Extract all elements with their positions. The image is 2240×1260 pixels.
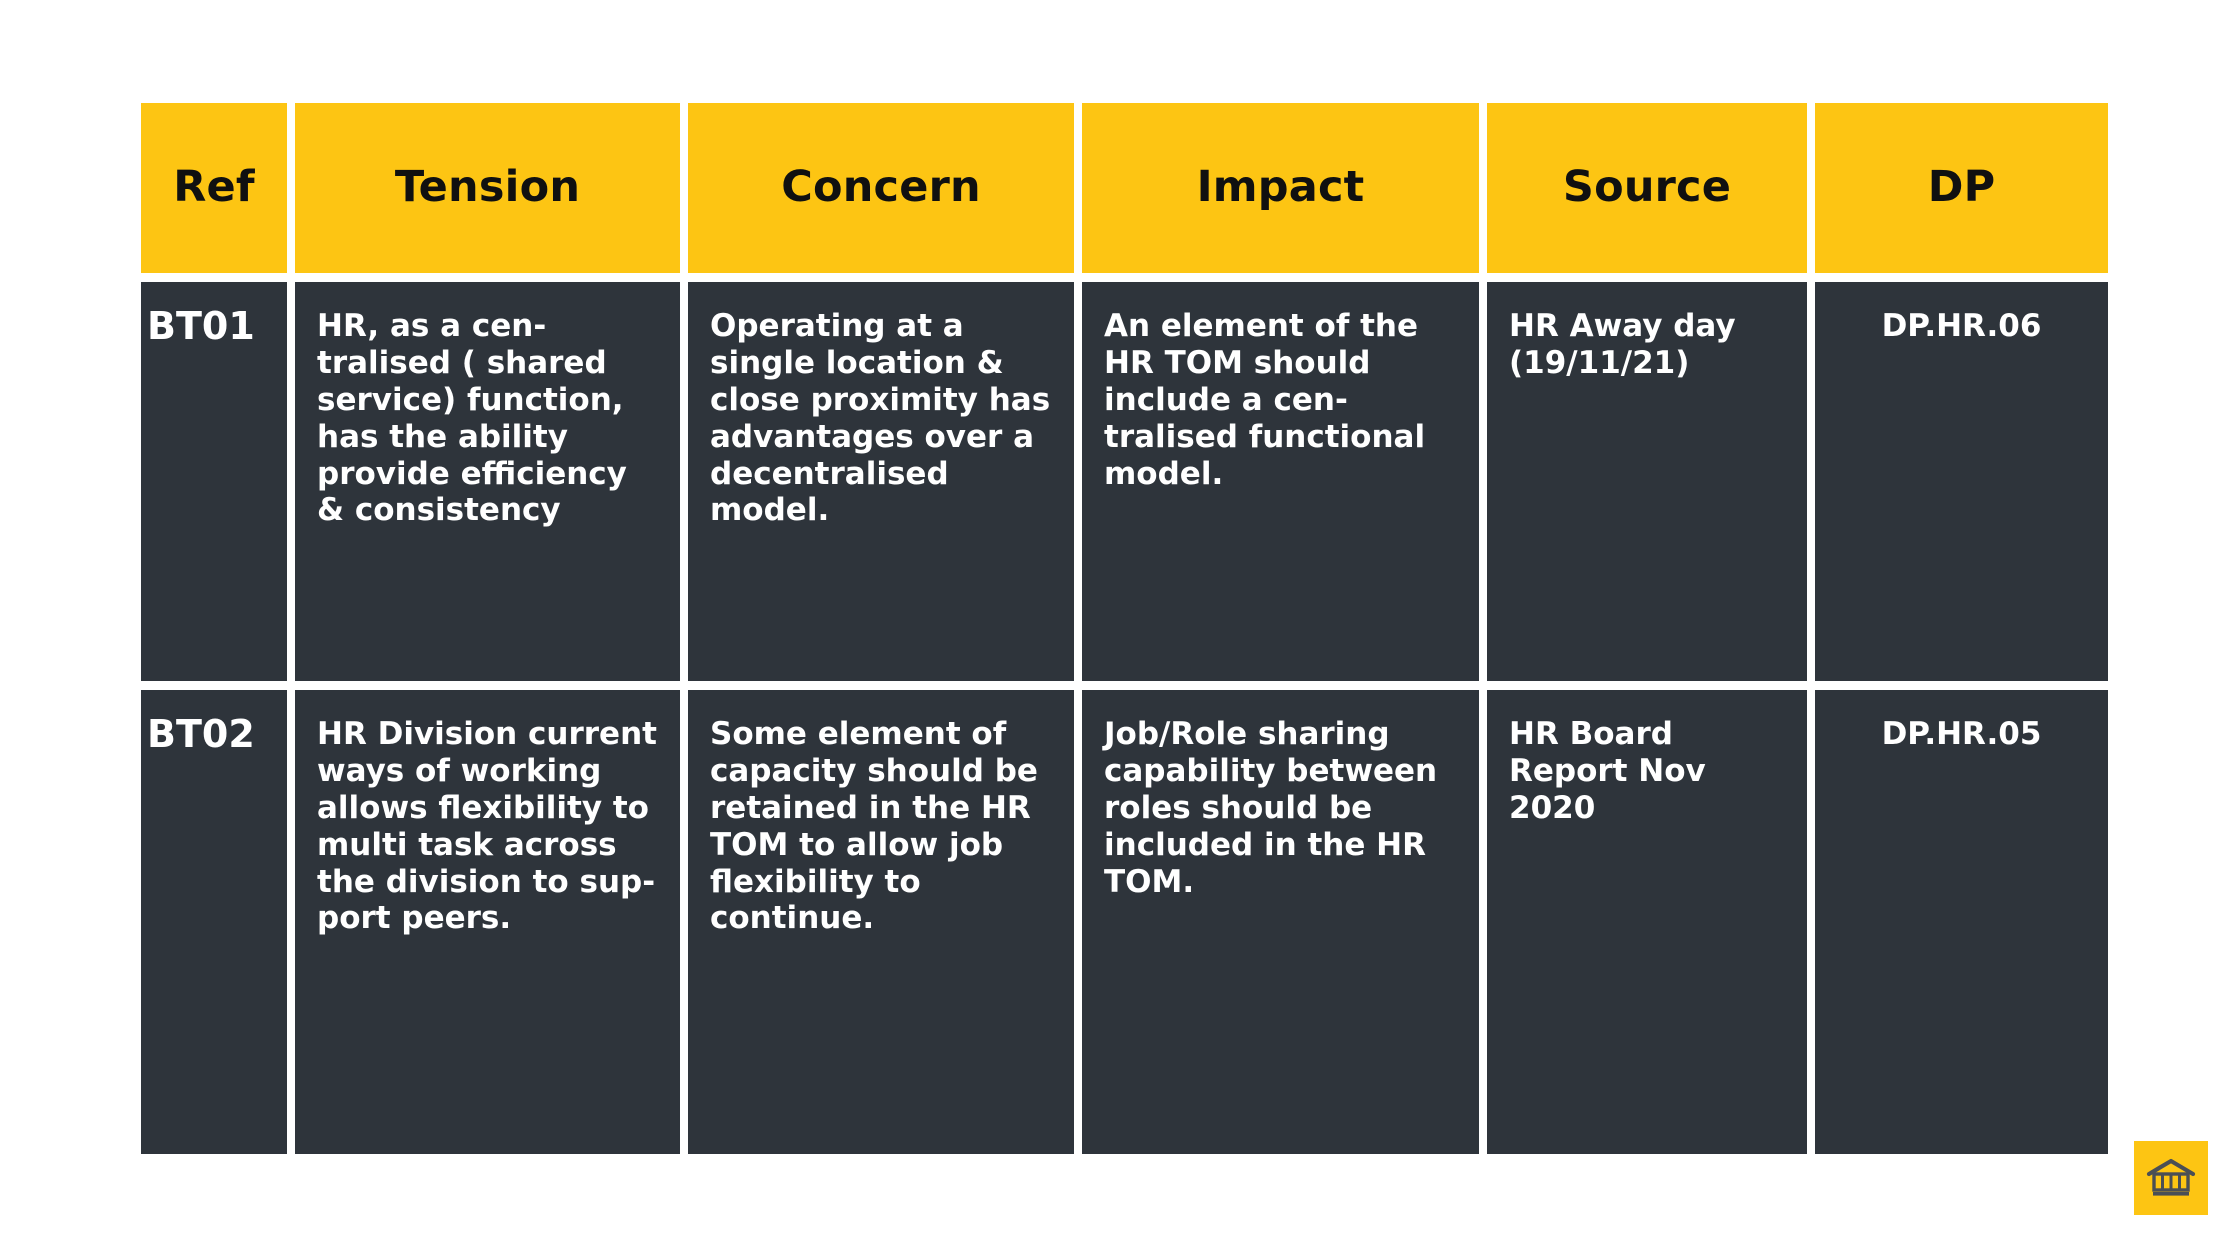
column-header-dp: DP — [1815, 103, 2108, 273]
table-row: HR Division cur­rent ways of working all… — [295, 690, 680, 1154]
table-row: HR, as a cen­tralised ( shared service) … — [295, 282, 680, 681]
column-header-impact: Impact — [1082, 103, 1479, 273]
organisation-logo — [2134, 1141, 2208, 1215]
tensions-table: Ref Tension Concern Impact Source DP BT0… — [141, 103, 2068, 1154]
column-header-ref: Ref — [141, 103, 287, 273]
column-header-tension: Tension — [295, 103, 680, 273]
table-row: An element of the HR TOM should include … — [1082, 282, 1479, 681]
column-header-concern: Concern — [688, 103, 1074, 273]
table-row: BT01 — [141, 282, 287, 681]
table-row: Job/Role sharing capability be­tween rol… — [1082, 690, 1479, 1154]
table-row: HR Board Report Nov 2020 — [1487, 690, 1807, 1154]
table-row: HR Away day (19/11/21) — [1487, 282, 1807, 681]
column-header-source: Source — [1487, 103, 1807, 273]
table-row: DP.HR.05 — [1815, 690, 2108, 1154]
bank-building-icon — [2145, 1156, 2197, 1200]
table-row: BT02 — [141, 690, 287, 1154]
table-row: Some element of capacity should be retai… — [688, 690, 1074, 1154]
tensions-table-container: Ref Tension Concern Impact Source DP BT0… — [141, 103, 2068, 1154]
table-row: DP.HR.06 — [1815, 282, 2108, 681]
table-row: Operating at a single location & close p… — [688, 282, 1074, 681]
